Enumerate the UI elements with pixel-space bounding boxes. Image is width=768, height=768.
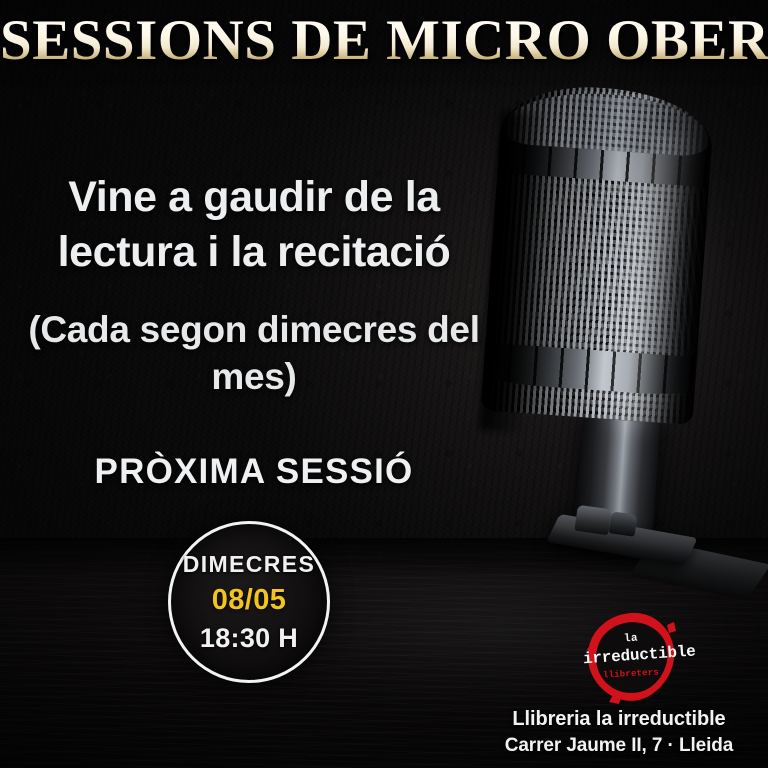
bookshop-logo: la irreductible llibreters (583, 609, 679, 705)
lead-line-2: lectura i la recitació (8, 225, 500, 280)
lead-text: Vine a gaudir de la lectura i la recitac… (8, 170, 500, 280)
poster-copy: Vine a gaudir de la lectura i la recitac… (8, 170, 500, 401)
microphone-grille-head (481, 81, 716, 425)
footer-shop-name: Llibreria la irreductible (470, 706, 768, 732)
sub-line-2: mes) (8, 353, 500, 400)
date-badge-weekday: DIMECRES (183, 551, 316, 578)
microphone-yoke-knob (574, 505, 611, 535)
footer-block: Llibreria la irreductible Carrer Jaume I… (470, 706, 768, 759)
date-badge-time: 18:30 H (200, 623, 298, 654)
date-badge: DIMECRES 08/05 18:30 H (168, 521, 330, 683)
poster-canvas: SESSIONS DE MICRO OBERT Vine a gaudir de… (0, 0, 768, 768)
footer-address: Carrer Jaume II, 7 · Lleida (470, 733, 768, 759)
date-badge-date: 08/05 (212, 584, 287, 617)
lead-line-1: Vine a gaudir de la (8, 170, 500, 225)
sub-line-1: (Cada segon dimecres del (8, 306, 500, 353)
poster-title: SESSIONS DE MICRO OBERT (0, 12, 768, 69)
next-session-heading: PRÒXIMA SESSIÓ (8, 452, 500, 492)
subtext: (Cada segon dimecres del mes) (8, 306, 500, 401)
microphone-yoke-knob-2 (609, 511, 638, 536)
